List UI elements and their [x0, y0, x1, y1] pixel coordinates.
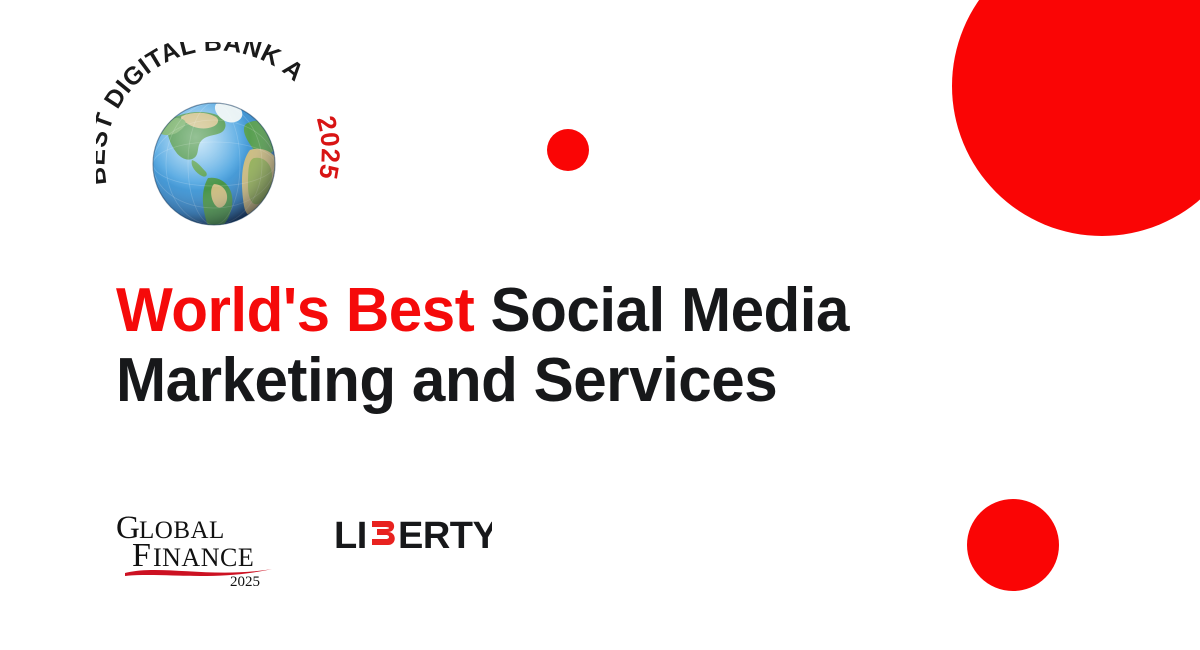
global-finance-word-finance-rest: INANCE [153, 543, 254, 572]
decorative-circle-small [547, 129, 589, 171]
decorative-circle-large [952, 0, 1200, 236]
headline-line-1: World's Best Social Media [116, 276, 950, 346]
best-digital-bank-award-badge: BEST DIGITAL BANK AWARD 2025 [96, 42, 344, 252]
logo-row: G LOBAL F INANCE 2025 LI ERTY [112, 500, 492, 590]
promotional-banner: BEST DIGITAL BANK AWARD 2025 World's Bes… [0, 0, 1200, 650]
global-finance-logo: G LOBAL F INANCE 2025 [112, 500, 280, 586]
award-year-text: 2025 [311, 113, 344, 182]
headline-line-2: Marketing and Services [116, 346, 950, 416]
liberty-text-part1: LI [334, 515, 367, 557]
globe-earth-icon [153, 102, 284, 229]
headline-block: World's Best Social Media Marketing and … [116, 276, 976, 416]
global-finance-year: 2025 [230, 574, 260, 586]
global-finance-word-global-rest: LOBAL [139, 517, 225, 544]
liberty-stylised-b-icon [372, 521, 395, 545]
liberty-text-part3: ERTY [398, 515, 492, 557]
global-finance-word-finance-initial: F [132, 537, 151, 574]
headline-accent-text: World's Best [116, 276, 474, 345]
headline-line-1-rest: Social Media [474, 276, 849, 345]
decorative-circle-medium [967, 499, 1059, 591]
liberty-logo: LI ERTY [332, 512, 492, 560]
